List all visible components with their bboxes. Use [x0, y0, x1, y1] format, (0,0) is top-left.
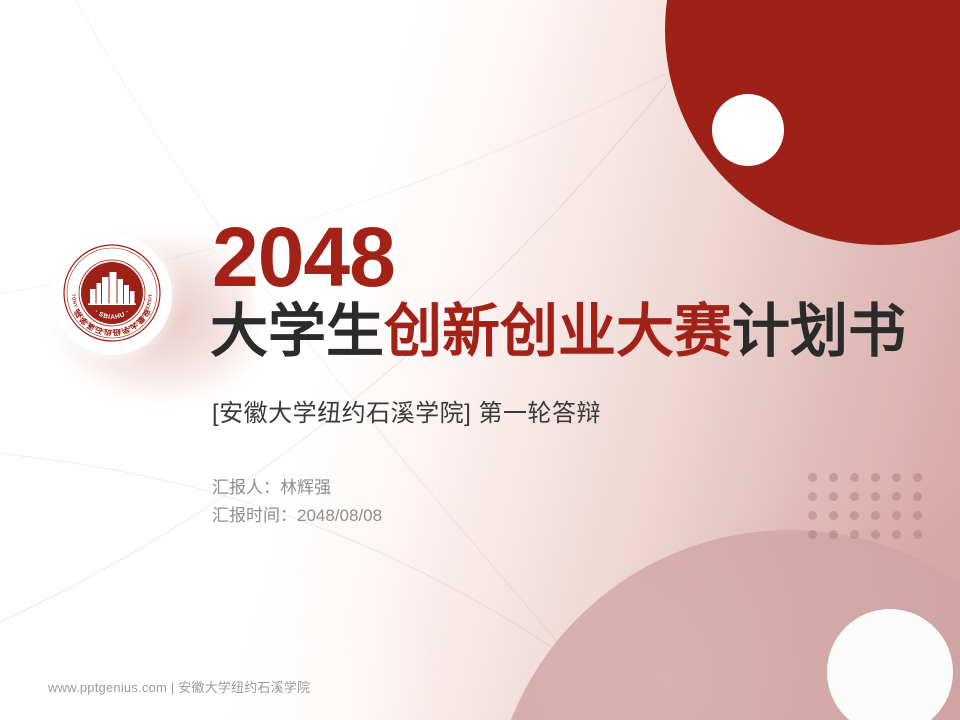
decorative-dot: [913, 530, 922, 539]
decorative-dot: [913, 511, 922, 520]
decorative-dot: [913, 473, 922, 482]
headline-segment-2: 计划书: [732, 299, 906, 364]
decorative-circle-white-small: [712, 94, 784, 166]
headline-segment-1: 创新创业大赛: [384, 299, 732, 364]
headline-segment-0: 大学生: [210, 299, 384, 364]
decorative-dot: [871, 530, 880, 539]
presenter-line: 汇报人：林辉强: [212, 474, 912, 502]
decorative-dot: [913, 492, 922, 501]
title-text-block: 2048 大学生创新创业大赛计划书 [安徽大学纽约石溪学院] 第一轮答辩 汇报人…: [212, 216, 912, 530]
date-line: 汇报时间：2048/08/08: [212, 502, 912, 530]
decorative-dot: [850, 530, 859, 539]
decorative-dot: [892, 530, 901, 539]
presentation-title-slide: · SBIAHU · 安徽大学纽约石溪学院 STONY BROOK INSTIT…: [0, 0, 960, 720]
decorative-dot: [808, 530, 817, 539]
university-logo-icon: · SBIAHU · 安徽大学纽约石溪学院 STONY BROOK INSTIT…: [62, 243, 162, 343]
decorative-dot: [829, 530, 838, 539]
presentation-meta: 汇报人：林辉强 汇报时间：2048/08/08: [212, 474, 912, 530]
year-title: 2048: [212, 216, 912, 298]
main-headline: 大学生创新创业大赛计划书: [210, 302, 912, 363]
subtitle: [安徽大学纽约石溪学院] 第一轮答辩: [212, 393, 912, 428]
footer-credit: www.pptgenius.com | 安徽大学纽约石溪学院: [48, 677, 310, 696]
